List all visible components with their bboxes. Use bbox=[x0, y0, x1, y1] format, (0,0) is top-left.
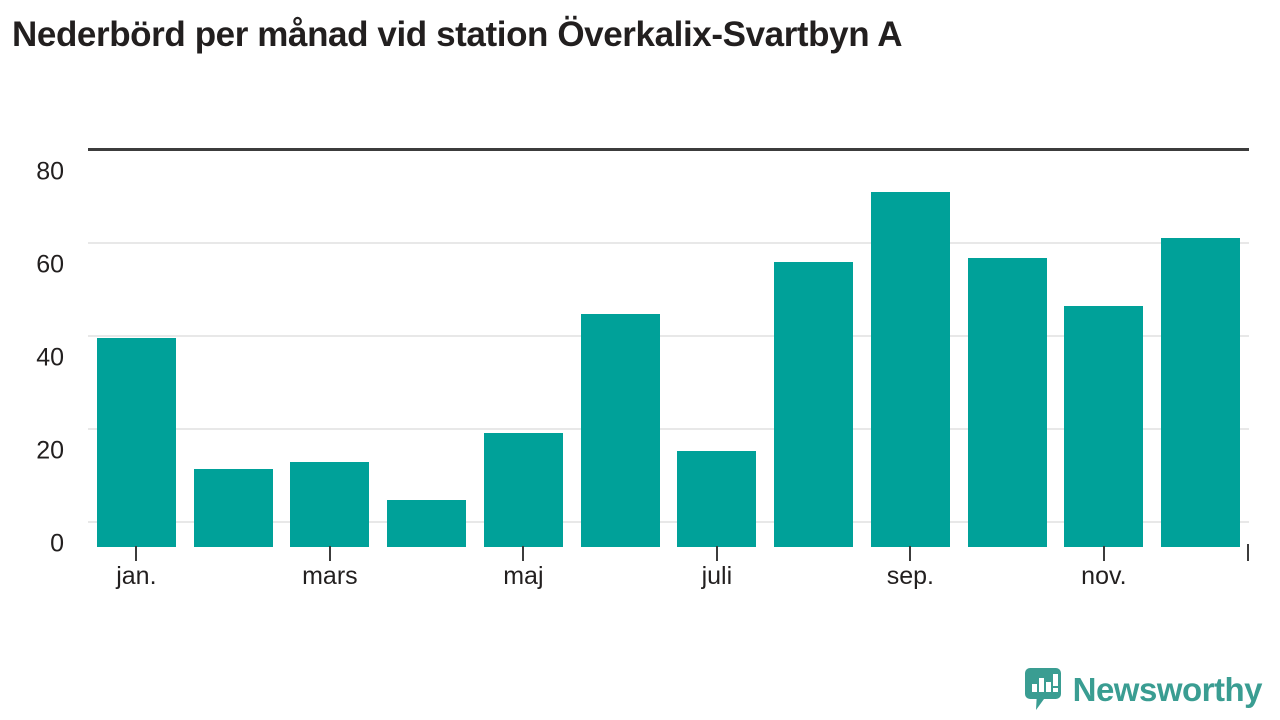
x-axis-tick-label: juli bbox=[702, 562, 733, 591]
x-axis-tick-label: maj bbox=[503, 562, 543, 591]
bars-layer bbox=[88, 151, 1249, 547]
bar[interactable] bbox=[871, 192, 950, 548]
chart-title: Nederbörd per månad vid station Överkali… bbox=[12, 14, 1268, 56]
x-axis-tick-label: jan. bbox=[116, 562, 156, 591]
y-axis-tick-label: 80 bbox=[36, 158, 64, 187]
bar[interactable] bbox=[97, 338, 176, 547]
x-axis-tick bbox=[522, 546, 524, 561]
x-axis-tick bbox=[329, 546, 331, 561]
x-axis-tick-label: sep. bbox=[887, 562, 934, 591]
y-axis-tick-label: 0 bbox=[50, 530, 64, 559]
bar[interactable] bbox=[1064, 306, 1143, 547]
bar[interactable] bbox=[194, 469, 273, 547]
x-axis-tick-label: nov. bbox=[1081, 562, 1126, 591]
bar[interactable] bbox=[1161, 238, 1240, 547]
plot-area bbox=[88, 148, 1249, 547]
x-axis-end-tick bbox=[1247, 544, 1249, 561]
newsworthy-logo: Newsworthy bbox=[1024, 666, 1262, 712]
x-axis-tick bbox=[1103, 546, 1105, 561]
y-axis-tick-label: 20 bbox=[36, 437, 64, 466]
bar[interactable] bbox=[968, 258, 1047, 547]
y-axis-tick-label: 40 bbox=[36, 344, 64, 373]
bar[interactable] bbox=[484, 433, 563, 547]
bar[interactable] bbox=[677, 451, 756, 547]
bar[interactable] bbox=[387, 500, 466, 547]
y-axis-labels: 020406080 bbox=[0, 148, 74, 547]
x-axis-tick bbox=[716, 546, 718, 561]
x-axis-tick-label: mars bbox=[302, 562, 358, 591]
bar[interactable] bbox=[774, 262, 853, 547]
y-axis-tick-label: 60 bbox=[36, 251, 64, 280]
x-axis: jan.marsmajjulisep.nov. bbox=[88, 544, 1249, 604]
bar-chart: Nederbörd per månad vid station Överkali… bbox=[0, 0, 1280, 720]
bar[interactable] bbox=[581, 314, 660, 547]
x-axis-tick bbox=[135, 546, 137, 561]
brand-name: Newsworthy bbox=[1073, 673, 1262, 706]
x-axis-tick bbox=[909, 546, 911, 561]
speech-bubble-bar-chart-icon bbox=[1024, 667, 1062, 711]
bar[interactable] bbox=[290, 462, 369, 548]
